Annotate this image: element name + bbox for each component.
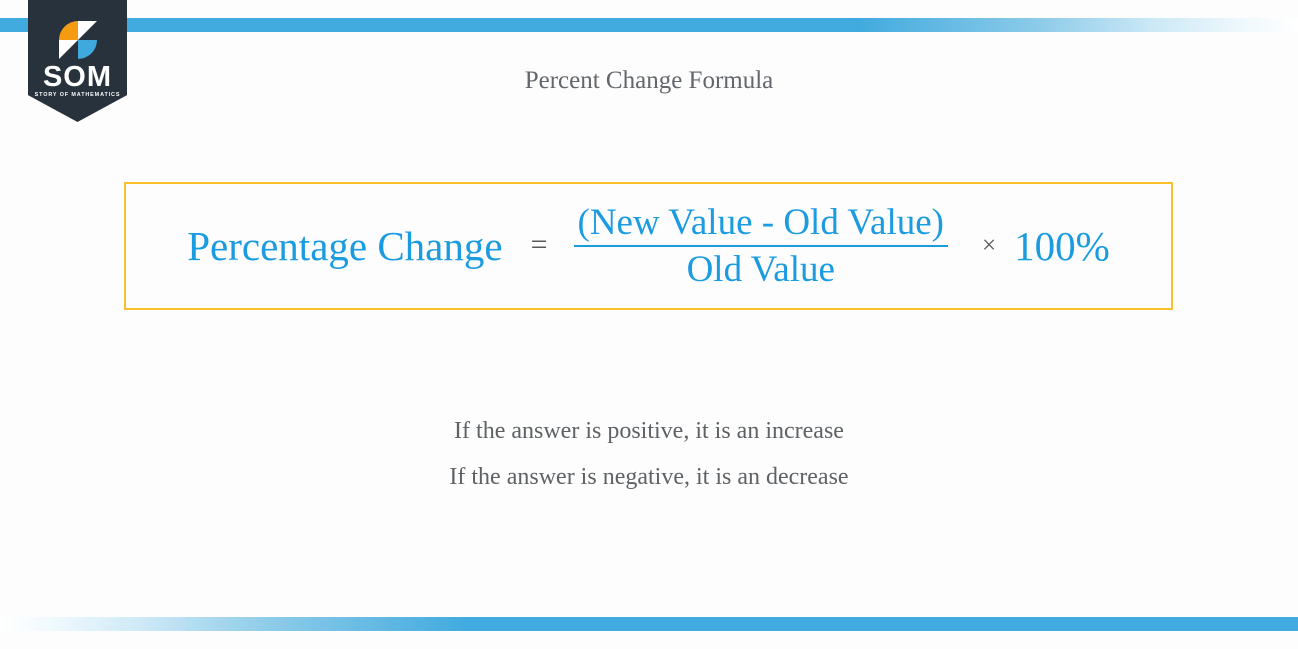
bottom-accent-bar: [0, 617, 1298, 631]
notes-block: If the answer is positive, it is an incr…: [0, 408, 1298, 500]
som-s-monogram-icon: [56, 18, 100, 62]
multiplication-sign: ×: [948, 233, 1014, 258]
formula-left-side: Percentage Change: [187, 226, 530, 267]
formula-box: Percentage Change = (New Value - Old Val…: [124, 182, 1173, 310]
fraction-numerator: (New Value - Old Value): [574, 202, 948, 245]
formula-multiplier: 100%: [1014, 226, 1110, 267]
note-line-positive: If the answer is positive, it is an incr…: [0, 408, 1298, 454]
formula-fraction: (New Value - Old Value) Old Value: [574, 202, 948, 291]
page-title: Percent Change Formula: [0, 66, 1298, 96]
formula-equation: Percentage Change = (New Value - Old Val…: [126, 184, 1171, 308]
som-logo: SOM STORY OF MATHEMATICS: [28, 0, 127, 122]
note-line-negative: If the answer is negative, it is an decr…: [0, 454, 1298, 500]
top-accent-bar: [0, 18, 1298, 32]
equals-sign: =: [531, 230, 574, 260]
fraction-denominator: Old Value: [683, 247, 839, 290]
